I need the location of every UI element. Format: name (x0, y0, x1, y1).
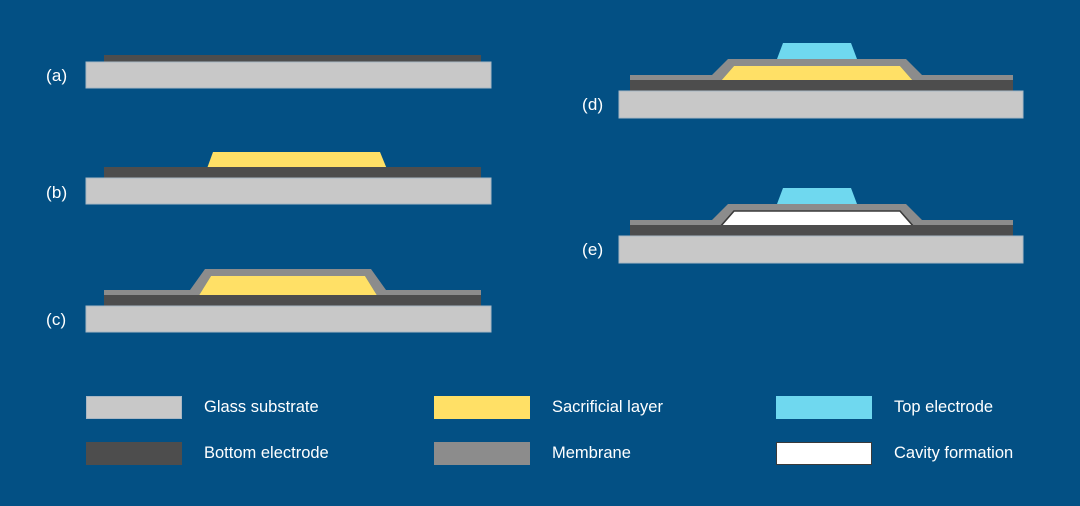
sacrificial-layer-b (205, 152, 389, 174)
glass-substrate-d (619, 91, 1023, 118)
glass-substrate-c (86, 306, 491, 332)
legend-label-top-electrode: Top electrode (894, 398, 993, 417)
swatch-glass-substrate (86, 396, 182, 419)
swatch-sacrificial-layer (434, 396, 530, 419)
glass-substrate-a (86, 62, 491, 88)
legend-label-sacrificial-layer: Sacrificial layer (552, 398, 663, 417)
legend-item-glass-substrate: Glass substrate (86, 396, 319, 419)
top-electrode-e (777, 188, 857, 204)
swatch-top-electrode (776, 396, 872, 419)
membrane-e (630, 204, 1013, 227)
bottom-electrode-e (630, 225, 1013, 236)
panel-label-a: (a) (46, 66, 67, 86)
swatch-bottom-electrode (86, 442, 182, 465)
panel-label-e: (e) (582, 240, 603, 260)
panel-c-group (86, 269, 491, 332)
legend-item-sacrificial-layer: Sacrificial layer (434, 396, 663, 419)
panel-label-c: (c) (46, 310, 66, 330)
bottom-electrode-d (630, 80, 1013, 91)
panel-d-group (619, 43, 1023, 118)
panel-b-group (86, 152, 491, 204)
panel-label-d: (d) (582, 95, 603, 115)
swatch-cavity-formation (776, 442, 872, 465)
top-electrode-d (777, 43, 857, 59)
legend-item-top-electrode: Top electrode (776, 396, 993, 419)
legend-label-membrane: Membrane (552, 444, 631, 463)
cavity-e (720, 211, 914, 227)
figure-canvas: (a) (b) (c) (d) (0, 0, 1080, 506)
legend: Glass substrate Bottom electrode Sacrifi… (0, 380, 1080, 480)
legend-label-glass-substrate: Glass substrate (204, 398, 319, 417)
legend-item-cavity-formation: Cavity formation (776, 442, 1013, 465)
glass-substrate-e (619, 236, 1023, 263)
glass-substrate-b (86, 178, 491, 204)
legend-item-bottom-electrode: Bottom electrode (86, 442, 329, 465)
swatch-membrane (434, 442, 530, 465)
legend-item-membrane: Membrane (434, 442, 631, 465)
legend-label-bottom-electrode: Bottom electrode (204, 444, 329, 463)
panel-label-b: (b) (46, 183, 67, 203)
sacrificial-layer-d (720, 66, 914, 82)
panel-a-group (86, 55, 491, 88)
bottom-electrode-c (104, 295, 481, 306)
membrane-c (104, 269, 481, 297)
panel-e-group (619, 188, 1023, 263)
bottom-electrode-b (104, 167, 481, 178)
bottom-electrode-a (104, 55, 481, 63)
legend-label-cavity-formation: Cavity formation (894, 444, 1013, 463)
sacrificial-layer-c (198, 276, 378, 297)
membrane-d (630, 59, 1013, 82)
